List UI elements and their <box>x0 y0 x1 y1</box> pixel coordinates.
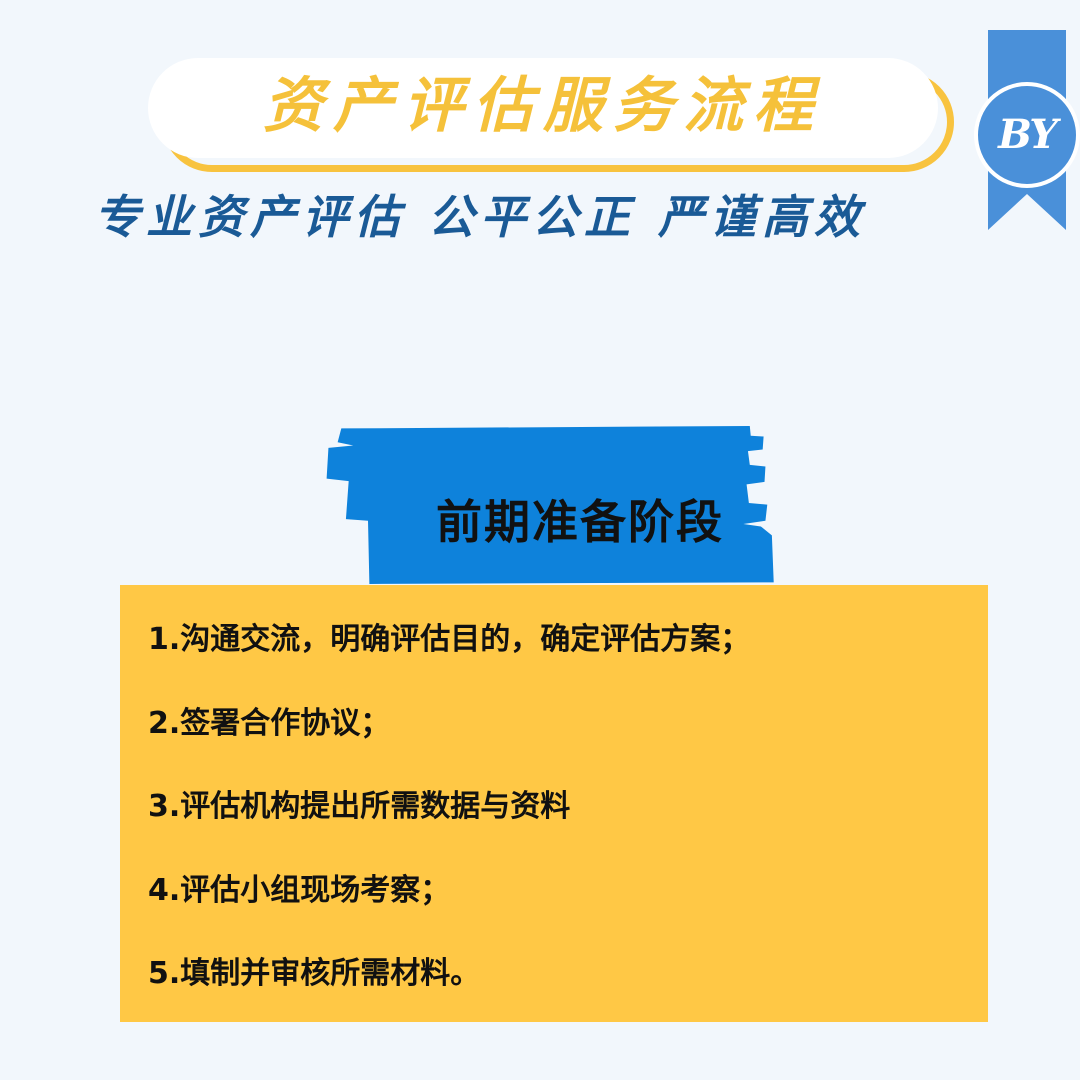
stage-title: 前期准备阶段 <box>350 438 810 600</box>
step-list: 1.沟通交流，明确评估目的，确定评估方案； 2.签署合作协议； 3.评估机构提出… <box>148 621 960 993</box>
badge-initials: BY <box>998 115 1056 155</box>
steps-card: 1.沟通交流，明确评估目的，确定评估方案； 2.签署合作协议； 3.评估机构提出… <box>120 585 988 1022</box>
page-title: 资产评估服务流程 <box>263 76 823 136</box>
title-pill: 资产评估服务流程 <box>148 58 938 158</box>
page-subtitle: 专业资产评估 公平公正 严谨高效 <box>0 190 960 245</box>
poster-canvas: 资产评估服务流程 BY 专业资产评估 公平公正 严谨高效 前期准备阶段 1.沟通… <box>0 0 1080 1080</box>
list-item: 2.签署合作协议； <box>148 705 960 743</box>
list-item: 3.评估机构提出所需数据与资料 <box>148 788 960 826</box>
title-banner: 资产评估服务流程 <box>148 58 958 176</box>
ribbon-badge-icon: BY <box>988 30 1066 230</box>
list-item: 4.评估小组现场考察； <box>148 872 960 910</box>
list-item: 5.填制并审核所需材料。 <box>148 955 960 993</box>
ribbon-circle-outline: BY <box>974 82 1080 188</box>
stage-banner: 前期准备阶段 <box>322 426 782 588</box>
list-item: 1.沟通交流，明确评估目的，确定评估方案； <box>148 621 960 659</box>
